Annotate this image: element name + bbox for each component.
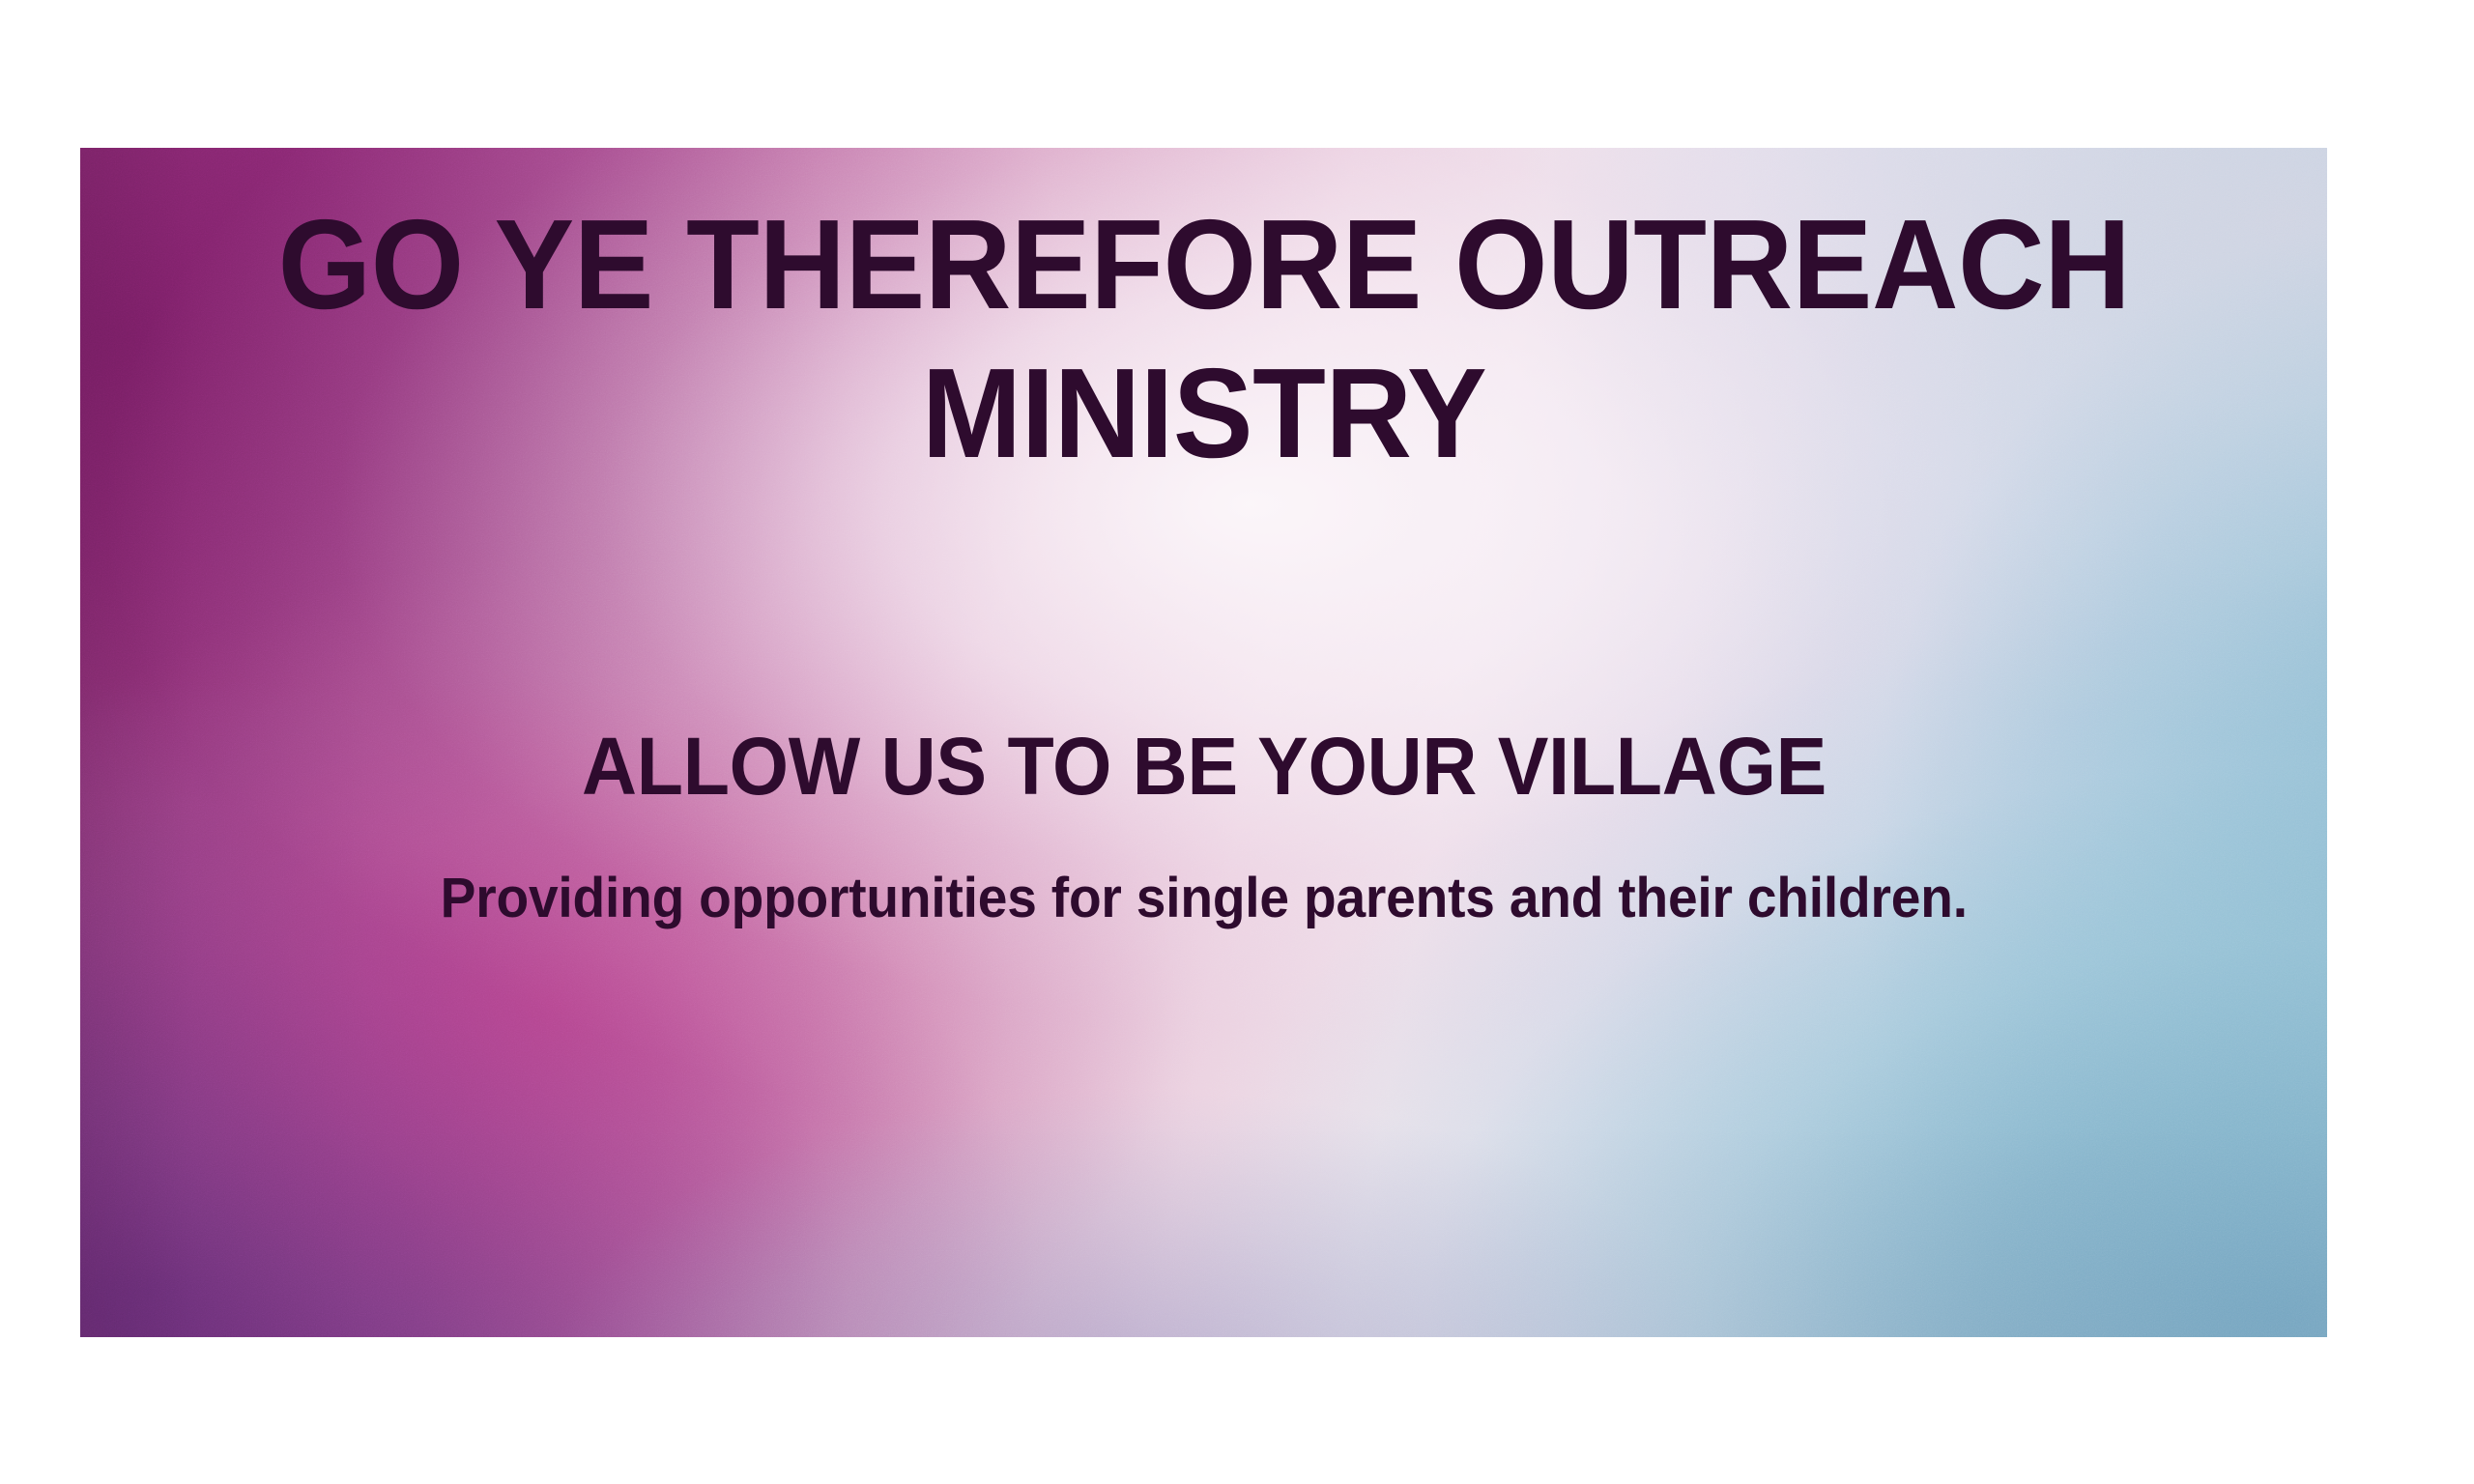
ministry-subheadline: ALLOW US TO BE YOUR VILLAGE (274, 722, 2133, 811)
ministry-tagline: Providing opportunities for single paren… (200, 868, 2206, 929)
banner-text-content: GO YE THEREFORE OUTREACH MINISTRY ALLOW … (80, 148, 2327, 1337)
ministry-headline: GO YE THEREFORE OUTREACH MINISTRY (274, 190, 2133, 489)
outreach-ministry-banner: GO YE THEREFORE OUTREACH MINISTRY ALLOW … (80, 148, 2327, 1337)
